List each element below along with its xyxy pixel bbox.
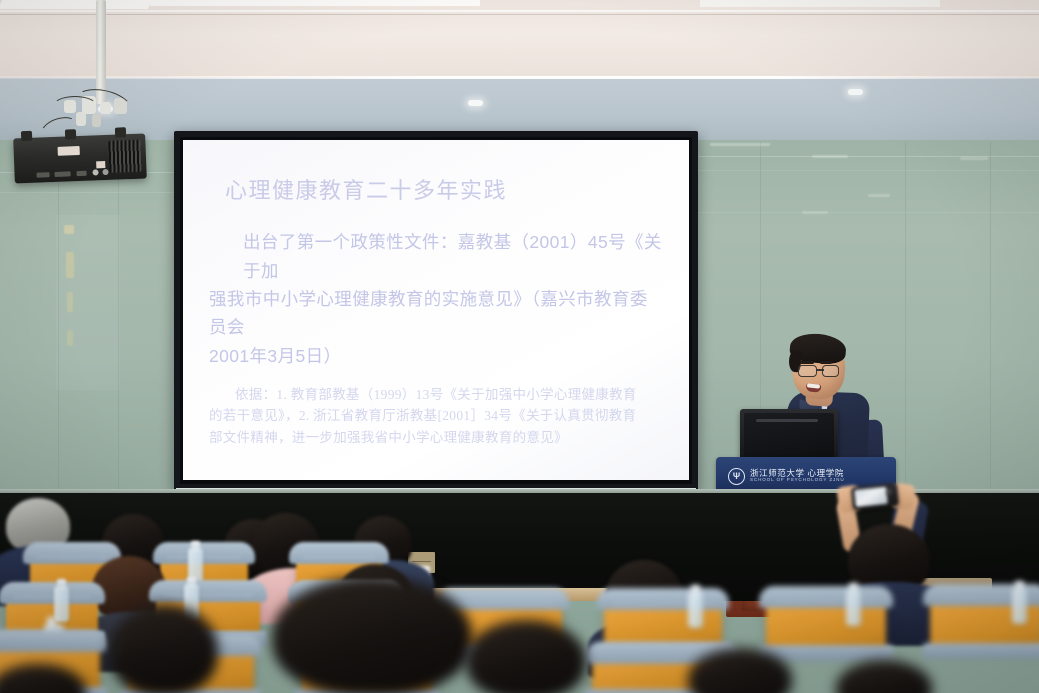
- wall-reflection: [710, 143, 770, 146]
- wall-panel-glow: [56, 215, 120, 390]
- ceiling-seam: [0, 10, 1039, 12]
- plaque-english-text: SCHOOL OF PSYCHOLOGY ZJNU: [750, 478, 845, 483]
- wall-reflection: [67, 292, 73, 312]
- water-bottle: [1012, 588, 1027, 624]
- ceiling-seam-shadow: [0, 14, 1039, 15]
- ceiling-strip-light: [700, 0, 940, 7]
- ceiling-strip-light: [0, 0, 152, 9]
- wall-reflection: [67, 330, 73, 346]
- smartphone-camera[interactable]: [851, 483, 899, 511]
- projector-label-sticker: [58, 146, 80, 156]
- wall-reflection: [960, 157, 988, 160]
- wall-seam: [698, 212, 1039, 213]
- water-bottle: [54, 586, 69, 622]
- seal-glyph: Ψ: [733, 472, 740, 481]
- projection-screen: 心理健康教育二十多年实践 出台了第一个政策性文件：嘉教基（2001）45号《关于…: [183, 140, 689, 480]
- foreground-audience-head: [272, 576, 472, 693]
- slide-note: 依据：1. 教育部教基（1999）13号《关于加强中小学心理健康教育 的若干意见…: [209, 384, 663, 448]
- monitor-reflection: [756, 419, 818, 422]
- speaker-eyebrow: [820, 361, 832, 364]
- university-seal-icon: Ψ: [728, 468, 745, 485]
- wall-reflection: [802, 211, 828, 214]
- slide-body: 出台了第一个政策性文件：嘉教基（2001）45号《关于加 强我市中小学心理健康教…: [209, 228, 663, 370]
- presentation-slide: 心理健康教育二十多年实践 出台了第一个政策性文件：嘉教基（2001）45号《关于…: [183, 140, 689, 480]
- water-bottle: [688, 592, 703, 628]
- slide-title: 心理健康教育二十多年实践: [225, 178, 663, 204]
- phone-lens-icon: [885, 488, 894, 497]
- foreground-audience-head: [466, 620, 586, 693]
- speaker-glasses-lens: [798, 365, 817, 377]
- slide-body-line: 强我市中小学心理健康教育的实施意见》（嘉兴市教育委员会: [209, 285, 663, 342]
- projector-label-sticker: [96, 161, 105, 168]
- slide-body-line: 出台了第一个政策性文件：嘉教基（2001）45号《关于加: [209, 228, 663, 285]
- chair-back: [766, 592, 886, 652]
- wall-vertical-seam: [905, 142, 906, 492]
- slide-body-line: 2001年3月5日）: [209, 342, 663, 370]
- projection-screen-frame: 心理健康教育二十多年实践 出台了第一个政策性文件：嘉教基（2001）45号《关于…: [174, 131, 698, 491]
- wall-reflection: [66, 252, 74, 278]
- projector-vent: [108, 140, 141, 173]
- downlight: [468, 100, 483, 106]
- speaker-glasses-lens: [822, 365, 839, 377]
- lecture-hall-scene: 心理健康教育二十多年实践 出台了第一个政策性文件：嘉教基（2001）45号《关于…: [0, 0, 1039, 693]
- ceiling-projector: [13, 133, 147, 183]
- water-bottle: [846, 590, 861, 626]
- downlight: [848, 89, 863, 95]
- foreground-audience-head: [836, 660, 932, 693]
- wall-reflection: [812, 155, 848, 158]
- speaker-eyebrow: [800, 361, 814, 364]
- slide-note-line: 的若干意见》，2. 浙江省教育厅浙教基[2001］34号《关于认真贯彻教育: [209, 405, 663, 426]
- foreground-audience-head: [110, 604, 218, 693]
- slide-note-line: 部文件精神，进一步加强我省中小学心理健康教育的意见》: [209, 427, 663, 448]
- band-highlight-edge: [0, 76, 1039, 79]
- speaker-glasses-bridge: [817, 369, 824, 371]
- slide-note-line: 依据：1. 教育部教基（1999）13号《关于加强中小学心理健康教育: [209, 384, 663, 405]
- ceiling-strip-light: [150, 0, 480, 6]
- wall-reflection: [64, 225, 74, 234]
- wall-seam: [698, 170, 1039, 171]
- wall-vertical-seam: [990, 142, 991, 492]
- wall-reflection: [868, 194, 890, 197]
- phone-screen: [854, 487, 888, 507]
- wall-seam: [0, 192, 174, 193]
